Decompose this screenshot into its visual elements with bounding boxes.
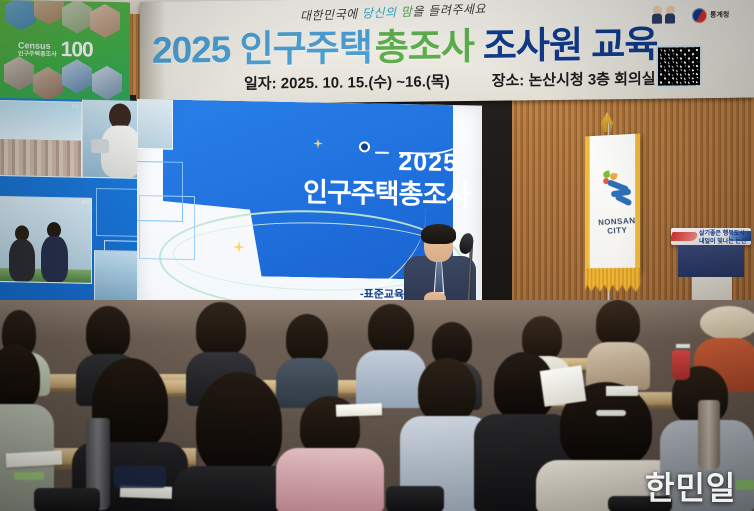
vwall-panel-label: 조사 [82,200,89,206]
poster-photo-hex [62,0,92,34]
poster-photo-hex [90,4,120,39]
nonsan-city-emblem-icon [601,170,635,213]
slide-title: 인구주택총조사 [303,170,470,212]
vwall-panel-person [82,98,138,179]
speaker-hair [421,224,456,244]
poster-photo-hex [4,56,34,91]
banner-date: 일자: 2025. 10. 15.(수) ~16.(목) [244,70,450,95]
slide-dash [375,152,389,154]
poster-photo-hex [92,66,122,101]
notebook [14,472,44,480]
sun-hat-icon [700,306,754,340]
nonsan-mascot-icon [650,5,684,25]
taeguk-icon [692,8,707,23]
anniversary-number: 100 [61,38,93,63]
banner-place: 장소: 논산시청 3층 회의실 [492,68,656,92]
podium-swoosh-red [671,232,699,241]
slide-node-dot [359,141,370,152]
tumbler [698,400,720,470]
slide-thumb [137,99,173,150]
poster-photo-hex [6,0,36,31]
census-brand-line2: 인구주택총조사 [18,51,57,58]
press-watermark: 한민일보 [645,463,754,511]
drink-cup [672,350,690,380]
audience-area [0,300,754,511]
vwall-panel-label: 인구 [72,104,79,110]
nonsan-city-flag: NONSAN CITY [585,133,640,271]
census-100-poster: Census 인구주택총조사 100 [0,0,130,102]
podium-body [678,245,744,277]
chair-back [34,488,100,511]
podium-slogan: 살기좋은 행복도시 내일이 빛나는 논산 [699,231,747,245]
slide-accent-frame [139,195,195,260]
cup-straw [676,344,690,348]
handout-paper [606,386,638,396]
vwall-panel-people: 조사 [0,196,92,284]
gov-agency-label: 통계청 [710,10,729,20]
poster-photo-hex [62,59,92,94]
handout-paper [540,365,587,406]
qr-code-icon [656,45,702,88]
photo-scene: Census 인구주택총조사 100 대한민국에 당신의 맘을 들려주세요 20… [0,0,754,511]
flag-city-label: NONSAN CITY [591,216,640,237]
phone-on-desk [114,466,166,488]
government-emblem-icon: 통계청 [692,5,746,26]
vwall-accent-frame [96,188,138,237]
vwall-panel-cityscape: 인구 [0,100,82,178]
handout-paper [6,451,63,468]
census-logo: Census 인구주택총조사 100 [18,38,113,62]
poster-photo-hex [34,0,64,25]
poster-photo-hex [33,67,63,102]
left-video-wall: 인구 조사 [0,98,138,313]
banner-title-green: 총조사 [375,16,474,71]
banner-title-navy: 조사원 교육 [483,14,657,70]
podium-slogan-line1: 살기좋은 행복도시 [699,231,747,239]
handout-paper [336,403,382,417]
hair-clip-icon [596,410,626,416]
podium-top: 살기좋은 행복도시 내일이 빛나는 논산 [671,228,751,245]
chair-back [386,486,444,511]
event-banner: 대한민국에 당신의 맘을 들려주세요 2025 인구주택 총조사 조사원 교육 … [140,0,754,105]
banner-title-blue: 2025 인구주택 [152,17,372,74]
